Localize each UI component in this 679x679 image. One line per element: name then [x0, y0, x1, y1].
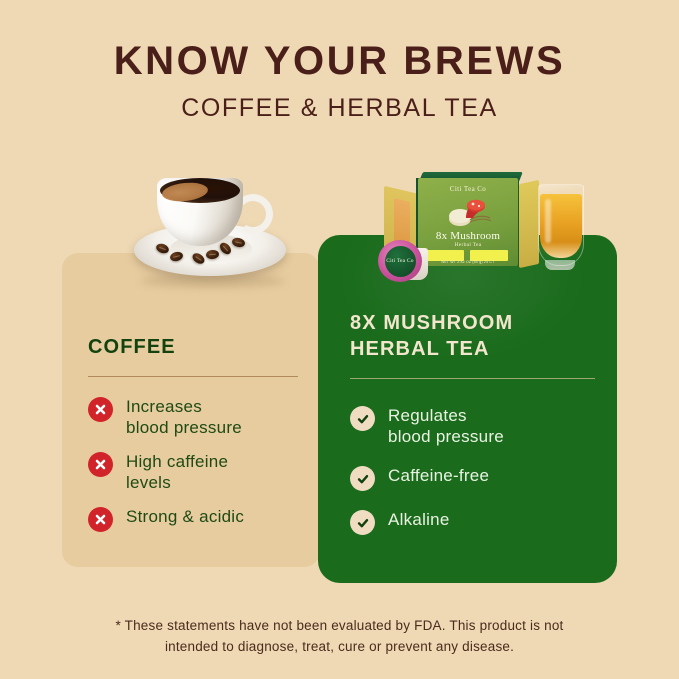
- disclaimer-line-2: intended to diagnose, treat, cure or pre…: [165, 639, 514, 654]
- list-item: Regulates blood pressure: [350, 405, 595, 447]
- box-net-weight: NET WT 2.82 OZ (80 g) 24 CT: [418, 260, 518, 264]
- tea-product-image: Citi Tea Co 8x Mushroom Herbal Tea NET W…: [378, 168, 583, 290]
- page-subtitle: COFFEE & HERBAL TEA: [0, 93, 679, 123]
- glass-waist: [545, 219, 581, 249]
- list-item-line: High caffeine: [126, 452, 228, 471]
- list-item-line: levels: [126, 473, 171, 492]
- coffee-panel-divider: [88, 376, 298, 377]
- k-cup-pod: Citi Tea Co: [378, 240, 430, 284]
- list-item-label: Alkaline: [388, 509, 450, 530]
- list-item: Caffeine-free: [350, 465, 595, 491]
- list-item-line: blood pressure: [126, 418, 242, 437]
- tea-glass-image: [536, 184, 584, 280]
- list-item-label: Caffeine-free: [388, 465, 489, 486]
- x-circle-icon: [88, 452, 113, 477]
- page-title: KNOW YOUR BREWS: [0, 38, 679, 84]
- box-brand-logo: Citi Tea Co: [418, 185, 518, 193]
- coffee-feature-list: Increases blood pressure High caffeine l…: [88, 396, 298, 532]
- mushroom-illustration: [446, 194, 492, 228]
- check-circle-icon: [350, 466, 375, 491]
- list-item: Increases blood pressure: [88, 396, 298, 438]
- list-item-label: Regulates blood pressure: [388, 405, 504, 447]
- coffee-panel-content: COFFEE Increases blood pressure: [88, 334, 298, 532]
- x-circle-icon: [88, 507, 113, 532]
- list-item: Alkaline: [350, 509, 595, 535]
- footer-disclaimer: * These statements have not been evaluat…: [50, 615, 629, 657]
- box-product-subtitle: Herbal Tea: [418, 242, 518, 248]
- coffee-panel-heading: COFFEE: [88, 334, 298, 360]
- list-item: High caffeine levels: [88, 451, 298, 493]
- tea-feature-list: Regulates blood pressure Caffeine-free: [350, 405, 595, 535]
- tea-panel-divider: [350, 378, 595, 379]
- tea-panel-heading-line1: 8X MUSHROOM: [350, 312, 513, 334]
- list-item-line: blood pressure: [388, 427, 504, 446]
- check-circle-icon: [350, 510, 375, 535]
- tea-panel-content: 8X MUSHROOM HERBAL TEA Regulates blood p…: [350, 310, 595, 535]
- list-item-label: Strong & acidic: [126, 506, 244, 527]
- coffee-cup-image: [120, 168, 300, 286]
- x-circle-icon: [88, 397, 113, 422]
- list-item-line: Regulates: [388, 406, 467, 425]
- tea-box-front: Citi Tea Co 8x Mushroom Herbal Tea NET W…: [418, 178, 518, 266]
- list-item: Strong & acidic: [88, 506, 298, 532]
- list-item-label: Increases blood pressure: [126, 396, 242, 438]
- k-cup-brand-logo: Citi Tea Co: [385, 246, 416, 277]
- infographic-canvas: KNOW YOUR BREWS COFFEE & HERBAL TEA Citi…: [0, 0, 679, 679]
- header: KNOW YOUR BREWS COFFEE & HERBAL TEA: [0, 38, 679, 123]
- tea-panel-heading: 8X MUSHROOM HERBAL TEA: [350, 310, 595, 362]
- k-cup-lid: Citi Tea Co: [378, 240, 422, 282]
- list-item-line: Increases: [126, 397, 202, 416]
- box-product-name: 8x Mushroom: [418, 230, 518, 242]
- tea-panel-heading-line2: HERBAL TEA: [350, 338, 490, 360]
- disclaimer-line-1: * These statements have not been evaluat…: [115, 618, 563, 633]
- glass-shape: [538, 184, 584, 266]
- check-circle-icon: [350, 406, 375, 431]
- list-item-label: High caffeine levels: [126, 451, 228, 493]
- glass-base: [545, 260, 575, 270]
